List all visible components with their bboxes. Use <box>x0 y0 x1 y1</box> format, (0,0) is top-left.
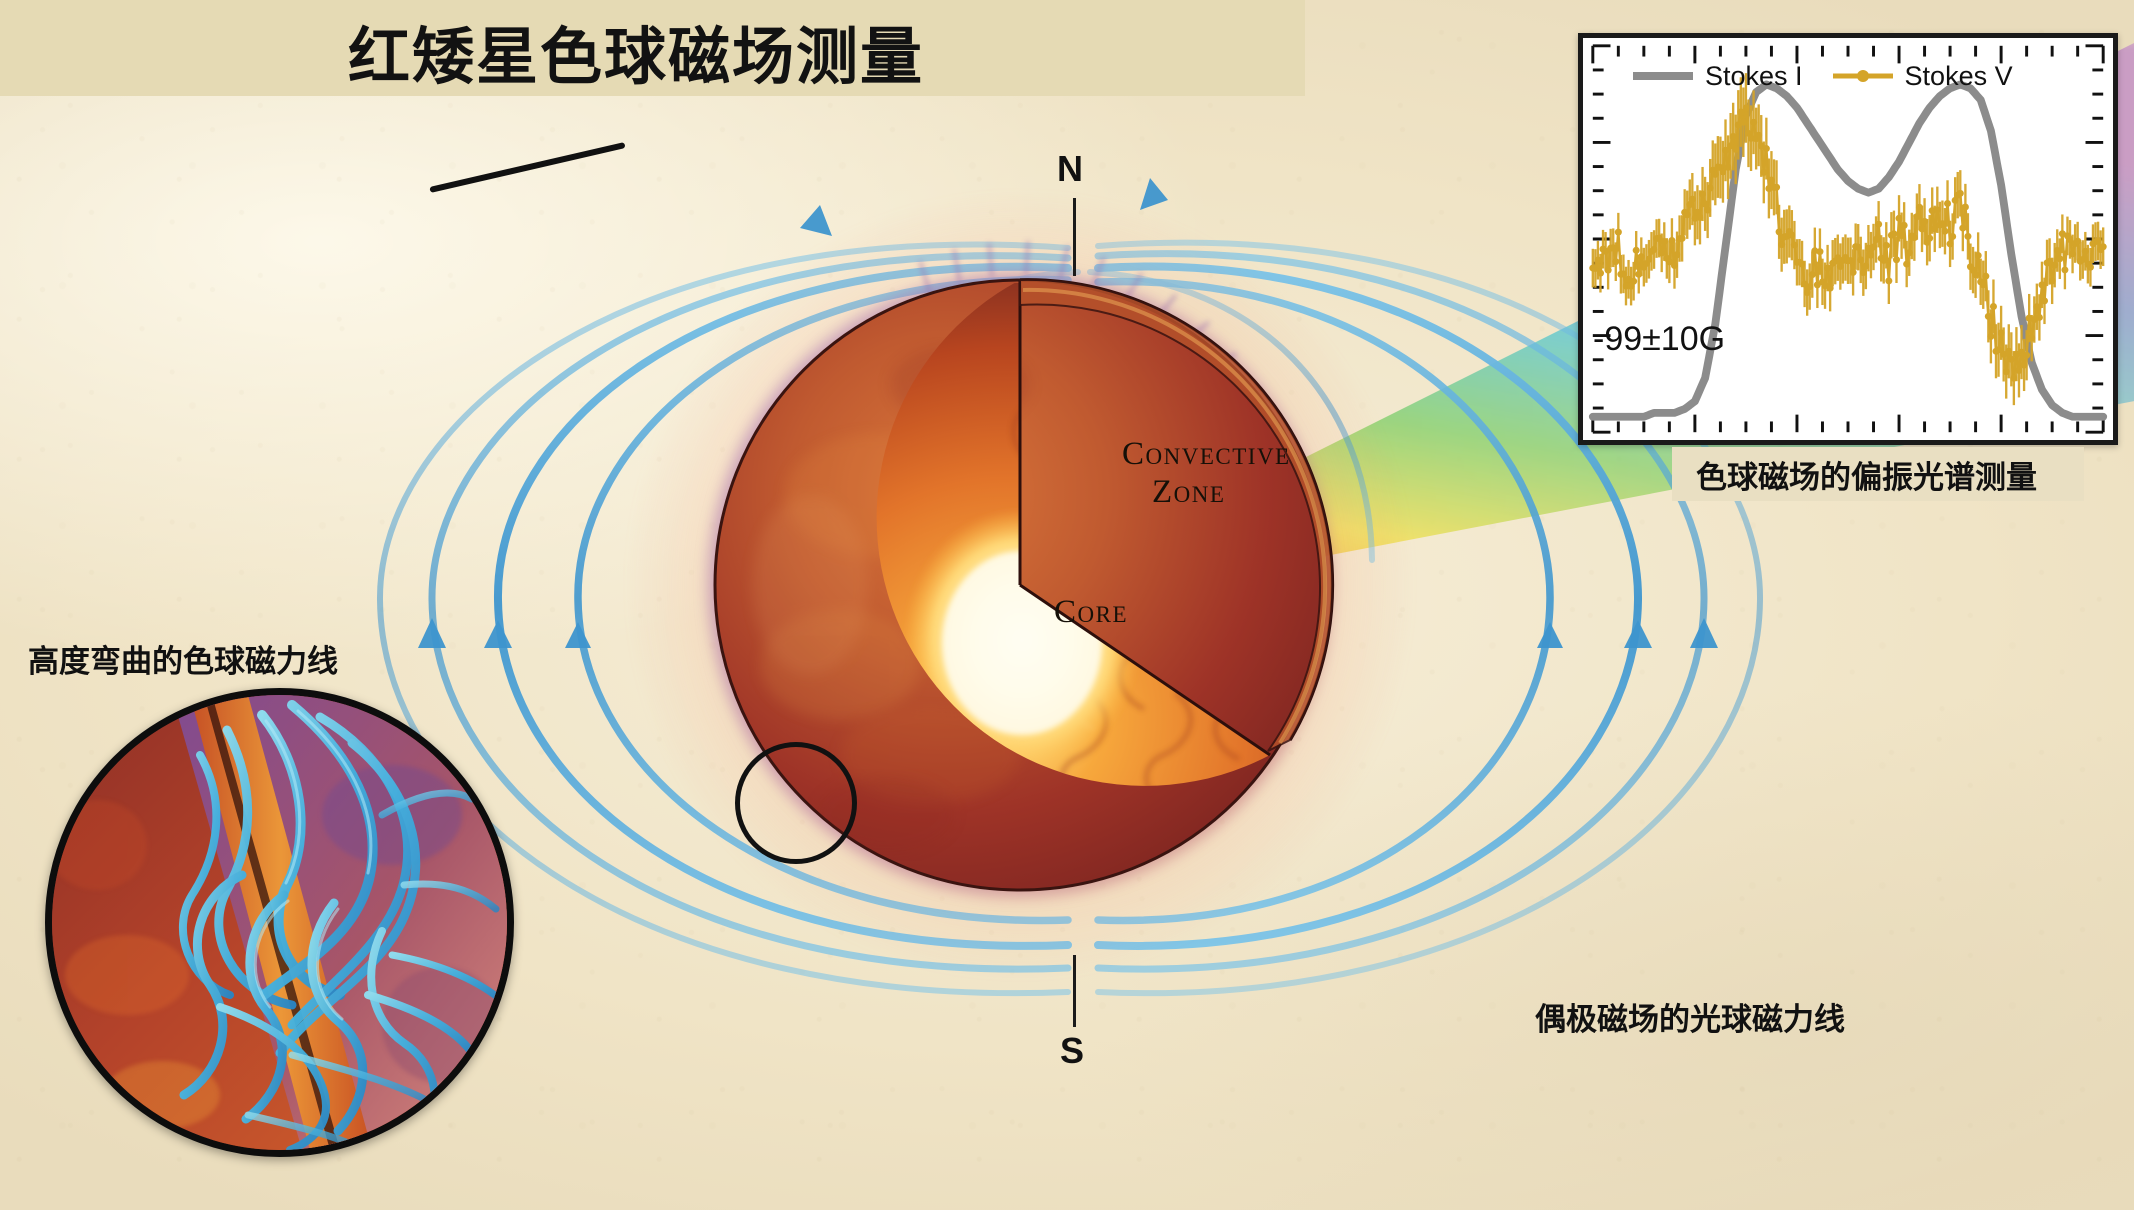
plot-svg <box>1583 38 2113 440</box>
core-label: Core <box>1054 594 1128 631</box>
dipole-caption: 偶极磁场的光球磁力线 <box>1535 994 1845 1039</box>
magnifier-source-circle <box>735 742 857 864</box>
rotation-axis-north <box>1073 198 1076 276</box>
magnetic-field-value: -99±10G <box>1593 320 1725 359</box>
star-cutaway-illustration <box>630 195 1410 975</box>
convective-zone-label-line2: Zone <box>1152 474 1225 511</box>
north-pole-label: N <box>1057 148 1083 190</box>
chromosphere-field-lines-illustration <box>52 695 507 1150</box>
plot-caption: 色球磁场的偏振光谱测量 <box>1696 452 2037 497</box>
legend-item-stokes-v: Stokes V <box>1831 63 2013 90</box>
stokes-spectrum-plot: Stokes I Stokes V -99±10G <box>1578 33 2118 445</box>
convective-zone-label-line1: Convective <box>1122 436 1291 473</box>
legend-item-stokes-i: Stokes I <box>1631 63 1803 90</box>
rotation-axis-south <box>1073 955 1076 1027</box>
south-pole-label: S <box>1060 1030 1084 1072</box>
stokes-v-swatch <box>1831 69 1895 83</box>
chromosphere-caption: 高度弯曲的色球磁力线 <box>28 636 338 681</box>
plot-legend: Stokes I Stokes V <box>1631 56 2081 96</box>
diagram-canvas: 红矮星色球磁场测量 <box>0 0 2134 1210</box>
legend-label-stokes-i: Stokes I <box>1705 63 1803 90</box>
stokes-i-swatch <box>1631 69 1695 83</box>
chromosphere-magnifier-inset <box>45 688 510 1148</box>
legend-label-stokes-v: Stokes V <box>1905 63 2013 90</box>
